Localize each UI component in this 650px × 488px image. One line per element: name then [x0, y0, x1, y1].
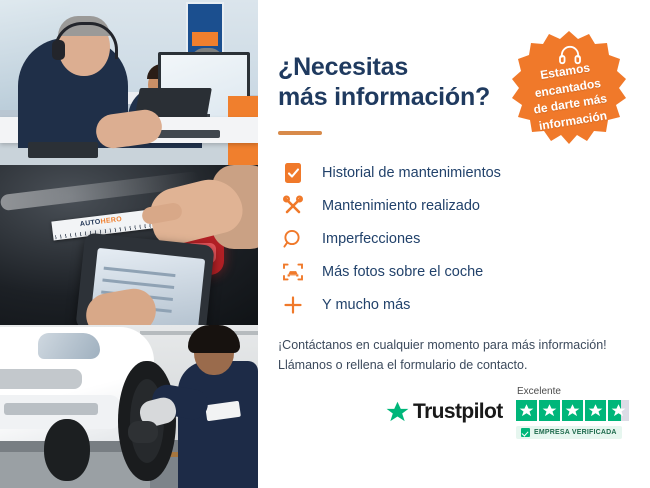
- star-5: [608, 400, 629, 421]
- mechanic-second-glove: [128, 421, 158, 443]
- trustpilot-rating-label: Excelente: [517, 386, 561, 397]
- feature-item-mas: Y mucho más: [278, 288, 608, 322]
- title-underline-rule: [278, 131, 322, 135]
- trustpilot-star-icon: [386, 401, 409, 423]
- contact-paragraph-line2: Llámanos o rellena el formulario de cont…: [278, 355, 638, 375]
- magnifier-icon: [278, 224, 308, 254]
- page-title-line1: ¿Necesitas: [278, 53, 408, 81]
- contact-paragraph: ¡Contáctanos en cualquier momento para m…: [278, 335, 638, 375]
- tools-cross-icon: [278, 191, 308, 221]
- verified-company-badge: EMPRESA VERIFICADA: [516, 426, 622, 439]
- agent-one-headset-cup: [52, 40, 65, 60]
- trustpilot-star-rating: [516, 400, 629, 421]
- call-center-agents-photo: [0, 0, 258, 165]
- vehicle-inspection-photo: AUTOHERO: [0, 165, 258, 325]
- verified-check-icon: [521, 428, 530, 437]
- star-2: [539, 400, 560, 421]
- support-badge: Estamos encantados de darte más informac…: [507, 29, 631, 153]
- feature-item-fotos: Más fotos sobre el coche: [278, 255, 608, 289]
- trustpilot-logo[interactable]: Trustpilot: [386, 400, 503, 424]
- ruler-brand-part1: AUTO: [80, 219, 102, 228]
- feature-label: Historial de mantenimientos: [322, 164, 501, 182]
- car-scan-icon: [278, 257, 308, 287]
- content-panel: ¿Necesitas más información? Estamos enca…: [258, 0, 650, 488]
- desk-tablet: [28, 142, 98, 158]
- mechanic-body: [178, 361, 258, 488]
- feature-label: Mantenimiento realizado: [322, 197, 480, 215]
- feature-label: Más fotos sobre el coche: [322, 263, 483, 281]
- contact-paragraph-line1: ¡Contáctanos en cualquier momento para m…: [278, 335, 638, 355]
- clipboard-check-icon: [278, 158, 308, 188]
- trustpilot-widget[interactable]: Trustpilot Excelente EMPRESA VERIFICADA: [386, 386, 650, 448]
- feature-item-imperfecciones: Imperfecciones: [278, 222, 608, 256]
- feature-label: Imperfecciones: [322, 230, 420, 248]
- page-title: ¿Necesitas más información?: [278, 52, 490, 112]
- rear-tyre: [44, 419, 90, 481]
- star-3: [562, 400, 583, 421]
- front-grille: [0, 369, 82, 389]
- plus-icon: [278, 290, 308, 320]
- feature-item-mantenimiento: Mantenimiento realizado: [278, 189, 608, 223]
- photo-column: AUTOHERO: [0, 0, 258, 488]
- wheel-check-photo: [0, 325, 258, 488]
- feature-list: Historial de mantenimientos Mantenimient…: [278, 156, 608, 322]
- star-1: [516, 400, 537, 421]
- verified-company-label: EMPRESA VERIFICADA: [534, 429, 617, 436]
- feature-label: Y mucho más: [322, 296, 410, 314]
- bumper-vent: [4, 403, 98, 415]
- mechanic-hair: [188, 325, 240, 353]
- feature-item-historial: Historial de mantenimientos: [278, 156, 608, 190]
- headlight: [38, 333, 100, 359]
- star-4: [585, 400, 606, 421]
- ruler-brand-part2: HERO: [100, 216, 122, 226]
- info-promo-card: AUTOHERO: [0, 0, 650, 488]
- page-title-line2: más información?: [278, 83, 490, 111]
- trustpilot-brand-label: Trustpilot: [413, 400, 503, 424]
